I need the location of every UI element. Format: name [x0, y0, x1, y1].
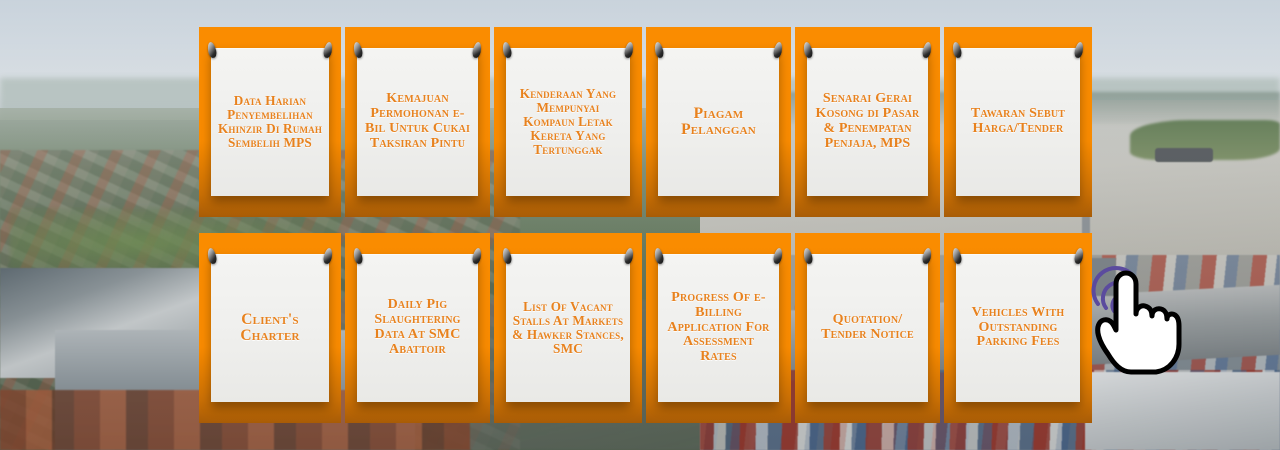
pin-icon	[802, 247, 813, 264]
card-label: List Of Vacant Stalls At Markets & Hawke…	[506, 300, 630, 356]
pin-icon	[623, 41, 634, 58]
pin-icon	[772, 247, 783, 264]
dataset-card-grid: Data Harian Penyembelihan Khinzir Di Rum…	[199, 27, 1080, 419]
card-row-1: Data Harian Penyembelihan Khinzir Di Rum…	[199, 27, 1080, 217]
pin-icon	[352, 41, 363, 58]
pin-icon	[623, 247, 634, 264]
card-paper: Senarai Gerai Kosong di Pasar & Penempat…	[807, 48, 928, 196]
card-paper: Progress Of e-Billing Application For As…	[658, 254, 779, 402]
card-paper: Vehicles With Outstanding Parking Fees	[956, 254, 1080, 402]
pin-icon	[501, 247, 512, 264]
card-paper: Kemajuan Permohonan e-Bil Untuk Cukai Ta…	[357, 48, 478, 196]
pin-icon	[471, 247, 482, 264]
dataset-card[interactable]: Progress Of e-Billing Application For As…	[646, 233, 791, 423]
dataset-card[interactable]: Quotation/ Tender Notice	[795, 233, 940, 423]
dataset-card[interactable]: Senarai Gerai Kosong di Pasar & Penempat…	[795, 27, 940, 217]
dataset-card[interactable]: Tawaran Sebut Harga/Tender	[944, 27, 1092, 217]
pin-icon	[501, 41, 512, 58]
card-paper: List Of Vacant Stalls At Markets & Hawke…	[506, 254, 630, 402]
dataset-card[interactable]: Vehicles With Outstanding Parking Fees	[944, 233, 1092, 423]
card-paper: Quotation/ Tender Notice	[807, 254, 928, 402]
card-paper: Daily Pig Slaughtering Data At SMC Abatt…	[357, 254, 478, 402]
pin-icon	[951, 247, 962, 264]
card-label: Kemajuan Permohonan e-Bil Untuk Cukai Ta…	[357, 92, 478, 151]
card-paper: Client's Charter	[211, 254, 329, 402]
dataset-card[interactable]: Piagam Pelanggan	[646, 27, 791, 217]
pin-icon	[1073, 247, 1084, 264]
card-label: Vehicles With Outstanding Parking Fees	[956, 306, 1080, 350]
page-stage: Data Harian Penyembelihan Khinzir Di Rum…	[0, 0, 1280, 450]
pin-icon	[322, 247, 333, 264]
card-label: Piagam Pelanggan	[658, 106, 779, 139]
card-label: Kenderaan Yang Mempunyai Kompaun Letak K…	[506, 87, 630, 157]
pin-icon	[1073, 41, 1084, 58]
card-row-2: Client's Charter Daily Pig Slaughtering …	[199, 233, 1080, 423]
card-paper: Piagam Pelanggan	[658, 48, 779, 196]
pin-icon	[653, 247, 664, 264]
dataset-card[interactable]: Kenderaan Yang Mempunyai Kompaun Letak K…	[494, 27, 642, 217]
card-label: Daily Pig Slaughtering Data At SMC Abatt…	[357, 298, 478, 357]
pin-icon	[921, 247, 932, 264]
pin-icon	[921, 41, 932, 58]
pin-icon	[352, 247, 363, 264]
card-label: Quotation/ Tender Notice	[807, 313, 928, 343]
card-paper: Data Harian Penyembelihan Khinzir Di Rum…	[211, 48, 329, 196]
dataset-card[interactable]: Data Harian Penyembelihan Khinzir Di Rum…	[199, 27, 341, 217]
card-paper: Tawaran Sebut Harga/Tender	[956, 48, 1080, 196]
card-paper: Kenderaan Yang Mempunyai Kompaun Letak K…	[506, 48, 630, 196]
dataset-card[interactable]: Daily Pig Slaughtering Data At SMC Abatt…	[345, 233, 490, 423]
pin-icon	[802, 41, 813, 58]
card-label: Data Harian Penyembelihan Khinzir Di Rum…	[211, 94, 329, 150]
card-label: Tawaran Sebut Harga/Tender	[956, 107, 1080, 137]
pin-icon	[322, 41, 333, 58]
dataset-card[interactable]: Kemajuan Permohonan e-Bil Untuk Cukai Ta…	[345, 27, 490, 217]
card-label: Senarai Gerai Kosong di Pasar & Penempat…	[807, 92, 928, 151]
pin-icon	[653, 41, 664, 58]
pin-icon	[471, 41, 482, 58]
pin-icon	[951, 41, 962, 58]
card-label: Progress Of e-Billing Application For As…	[658, 291, 779, 365]
dataset-card[interactable]: Client's Charter	[199, 233, 341, 423]
pin-icon	[772, 41, 783, 58]
card-label: Client's Charter	[211, 312, 329, 345]
pin-icon	[206, 41, 217, 58]
dataset-card[interactable]: List Of Vacant Stalls At Markets & Hawke…	[494, 233, 642, 423]
pin-icon	[206, 247, 217, 264]
